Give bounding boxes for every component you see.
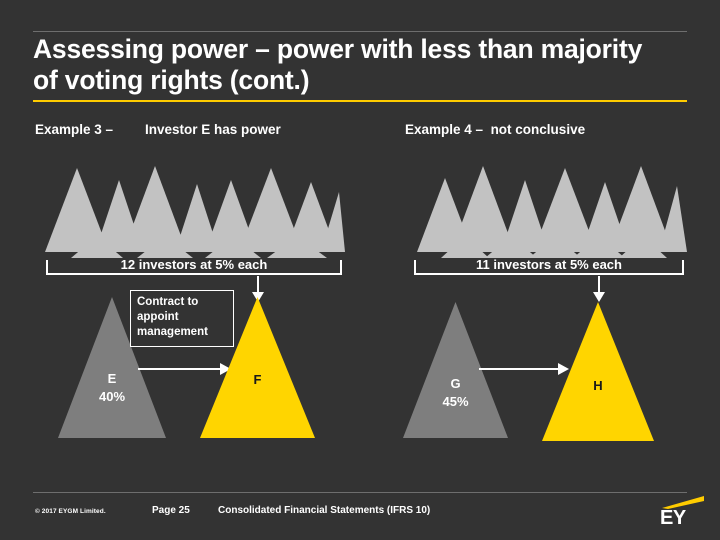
example-4-down-arrow <box>591 276 607 302</box>
investor-cluster-shape <box>45 166 345 258</box>
title-top-rule <box>33 31 687 32</box>
entity-f-triangle <box>200 297 315 438</box>
example-4-heading-body: not conclusive <box>491 122 586 137</box>
entity-h-name: H <box>542 377 654 395</box>
entity-h: H <box>542 302 654 441</box>
example-4-bracket-label: 11 investors at 5% each <box>414 258 684 272</box>
bracket-bar <box>46 273 342 275</box>
entity-f: F <box>200 297 315 438</box>
example-3-heading-body: Investor E has power <box>145 120 335 140</box>
ey-logo-text: EY <box>660 508 686 528</box>
footer-page-number: Page 25 <box>152 505 190 516</box>
footer-copyright: © 2017 EYGM Limited. <box>35 508 106 515</box>
example-4-heading: Example 4 – not conclusive <box>405 120 705 140</box>
example-3-heading-label: Example 3 – <box>35 120 145 140</box>
footer-rule <box>33 492 687 493</box>
slide-canvas: Assessing power – power with less than m… <box>0 0 720 540</box>
investor-cluster-shape <box>415 166 687 258</box>
example-4-heading-label: Example 4 – <box>405 122 483 137</box>
entity-f-labels: F <box>200 371 315 389</box>
example-3-bracket-label: 12 investors at 5% each <box>46 258 342 272</box>
entity-g-stake: 45% <box>403 393 508 411</box>
example-3-heading: Example 3 –Investor E has power <box>35 120 355 140</box>
example-4-bracket: 11 investors at 5% each <box>414 258 684 275</box>
entity-g-name: G <box>403 375 508 393</box>
entity-e-stake: 40% <box>58 388 166 406</box>
page-title: Assessing power – power with less than m… <box>33 34 673 96</box>
example-3-bracket: 12 investors at 5% each <box>46 258 342 275</box>
example-3-investor-cluster <box>45 166 345 258</box>
footer-deck-title: Consolidated Financial Statements (IFRS … <box>218 505 430 516</box>
entity-h-labels: H <box>542 377 654 395</box>
ey-logo: EY <box>660 496 706 530</box>
down-arrow-stem <box>257 276 259 293</box>
entity-h-triangle <box>542 302 654 441</box>
title-accent-rule <box>33 100 687 102</box>
down-arrow-head <box>593 292 605 302</box>
bracket-bar <box>414 273 684 275</box>
entity-f-name: F <box>200 371 315 389</box>
entity-g-labels: G 45% <box>403 375 508 410</box>
example-4-investor-cluster <box>415 166 687 258</box>
down-arrow-stem <box>598 276 600 293</box>
